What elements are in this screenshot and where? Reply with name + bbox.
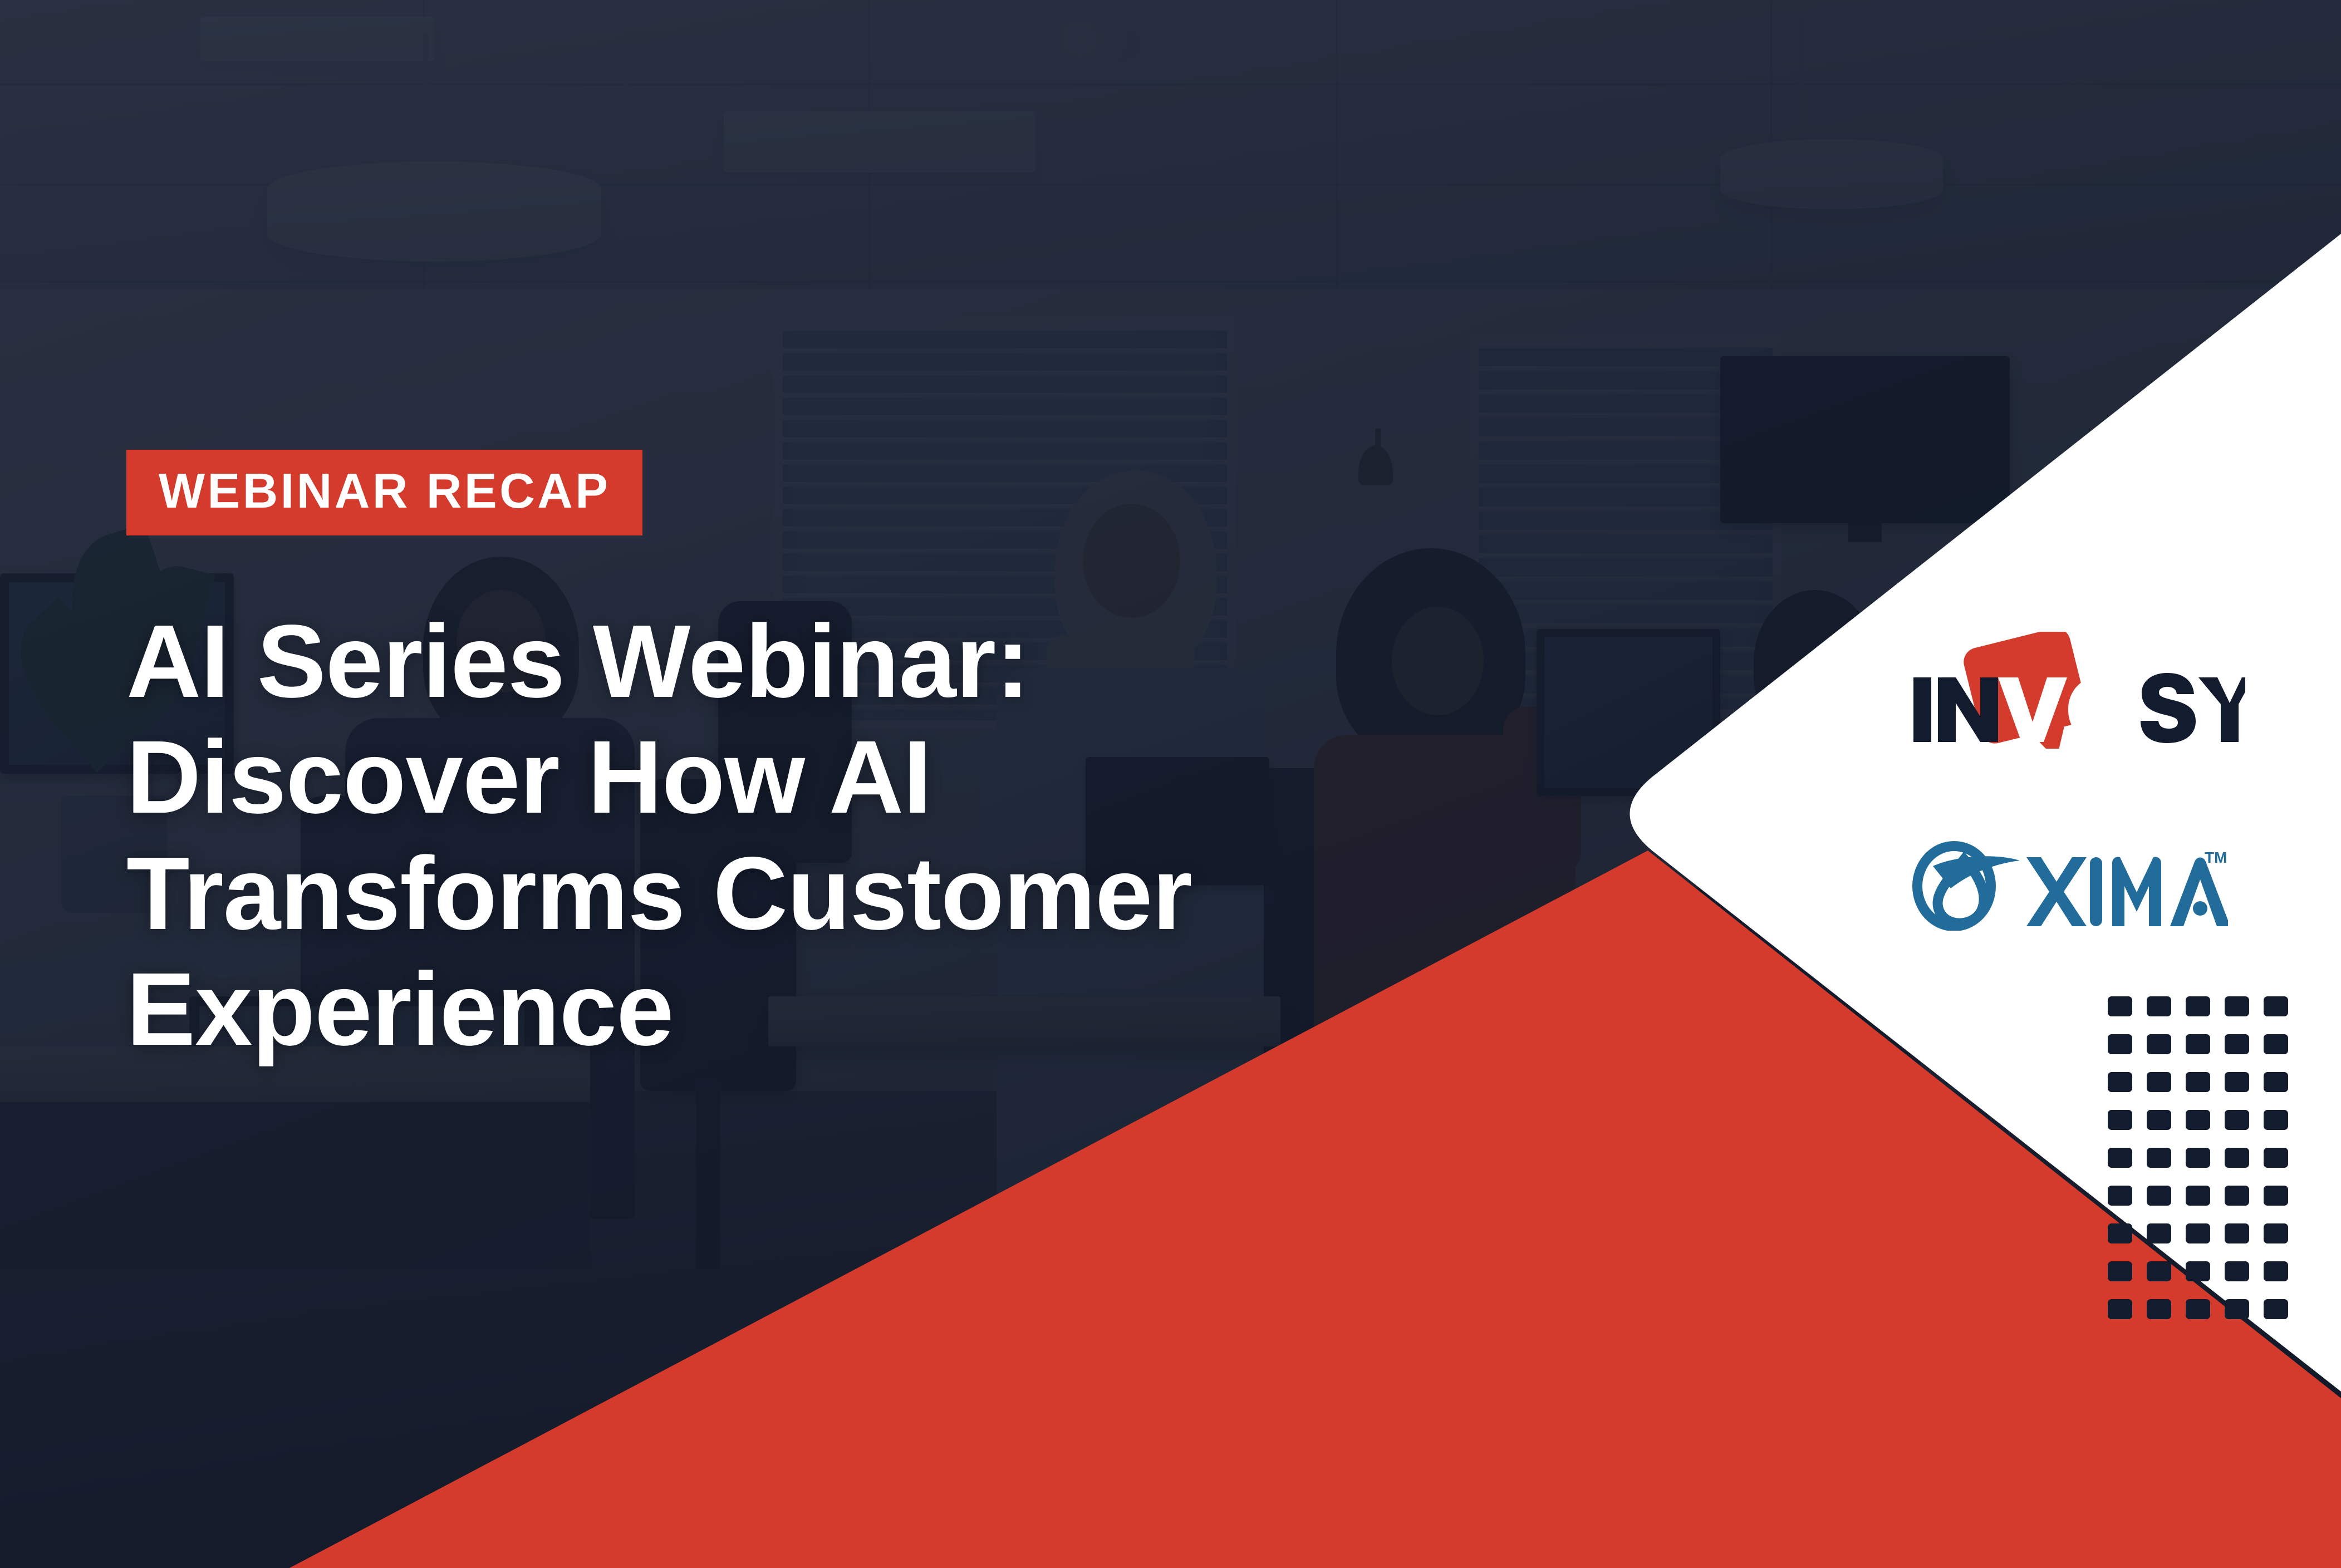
grid-dot: [2147, 1261, 2171, 1281]
xima-trademark: TM: [2205, 849, 2227, 866]
dot-grid-row: [2108, 1072, 2288, 1110]
grid-dot: [2147, 1299, 2171, 1319]
grid-dot: [2225, 1186, 2249, 1206]
grid-dot: [2264, 1186, 2288, 1206]
grid-dot: [2108, 1261, 2132, 1281]
grid-dot: [2108, 1186, 2132, 1206]
grid-dot: [2225, 996, 2249, 1016]
webinar-recap-badge: WEBINAR RECAP: [126, 450, 642, 535]
xima-logo: TM: [1911, 830, 2228, 931]
grid-dot: [2264, 1261, 2288, 1281]
grid-dot: [2264, 1034, 2288, 1054]
grid-dot: [2225, 1034, 2249, 1054]
grid-dot: [2108, 1072, 2132, 1092]
decorative-dot-grid: [2108, 996, 2288, 1337]
grid-dot: [2186, 1148, 2210, 1168]
grid-dot: [2225, 1110, 2249, 1130]
headline-line-2: Discover How AI: [126, 720, 1407, 835]
xima-wordmark: [2026, 857, 2228, 926]
grid-dot: [2264, 1223, 2288, 1243]
grid-dot: [2147, 1148, 2171, 1168]
webinar-recap-banner: WEBINAR RECAP AI Series Webinar: Discove…: [0, 0, 2341, 1568]
grid-dot: [2186, 1223, 2210, 1243]
dot-grid-row: [2108, 996, 2288, 1034]
grid-dot: [2108, 1110, 2132, 1130]
xima-swoosh-icon: [1917, 846, 2020, 926]
grid-dot: [2264, 996, 2288, 1016]
grid-dot: [2147, 1110, 2171, 1130]
invosys-logo: [1889, 632, 2245, 749]
headline-line-3: Transforms Customer: [126, 836, 1407, 952]
grid-dot: [2186, 1186, 2210, 1206]
dot-grid-row: [2108, 1299, 2288, 1337]
dot-grid-row: [2108, 1223, 2288, 1261]
grid-dot: [2264, 1148, 2288, 1168]
grid-dot: [2108, 1299, 2132, 1319]
grid-dot: [2147, 1034, 2171, 1054]
grid-dot: [2186, 1034, 2210, 1054]
grid-dot: [2225, 1261, 2249, 1281]
dot-grid-row: [2108, 1148, 2288, 1186]
grid-dot: [2225, 1072, 2249, 1092]
grid-dot: [2147, 1186, 2171, 1206]
grid-dot: [2108, 1148, 2132, 1168]
invosys-part-right: [2141, 673, 2245, 743]
grid-dot: [2147, 1223, 2171, 1243]
grid-dot: [2108, 996, 2132, 1016]
page-title: AI Series Webinar: Discover How AI Trans…: [126, 604, 1407, 1068]
grid-dot: [2108, 1034, 2132, 1054]
grid-dot: [2225, 1299, 2249, 1319]
dot-grid-row: [2108, 1186, 2288, 1223]
grid-dot: [2147, 1072, 2171, 1092]
dot-grid-row: [2108, 1110, 2288, 1148]
grid-dot: [2186, 1110, 2210, 1130]
grid-dot: [2108, 1223, 2132, 1243]
grid-dot: [2147, 996, 2171, 1016]
headline-line-4: Experience: [126, 952, 1407, 1068]
grid-dot: [2186, 1261, 2210, 1281]
invosys-part-left: [1913, 677, 1998, 742]
grid-dot: [2225, 1223, 2249, 1243]
grid-dot: [2264, 1110, 2288, 1130]
dot-grid-row: [2108, 1034, 2288, 1072]
grid-dot: [2264, 1072, 2288, 1092]
grid-dot: [2186, 1299, 2210, 1319]
dot-grid-row: [2108, 1261, 2288, 1299]
headline-line-1: AI Series Webinar:: [126, 604, 1407, 720]
grid-dot: [2186, 1072, 2210, 1092]
grid-dot: [2186, 996, 2210, 1016]
grid-dot: [2264, 1299, 2288, 1319]
grid-dot: [2225, 1148, 2249, 1168]
